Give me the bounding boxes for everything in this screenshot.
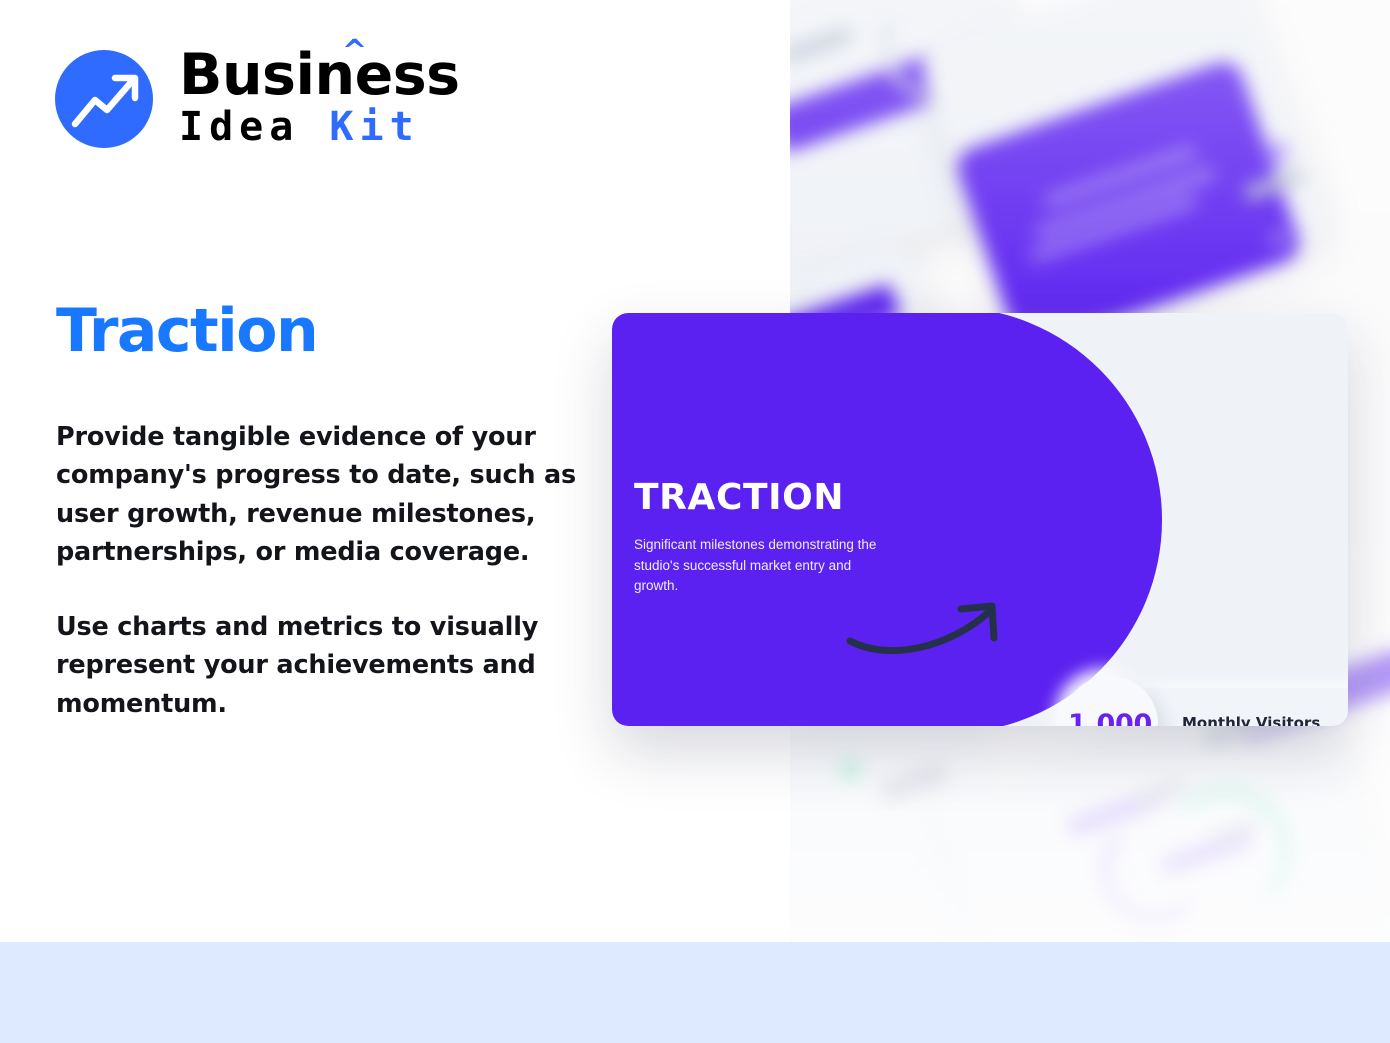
brand-name-business-text: Business bbox=[179, 42, 460, 108]
metric-value: 1,000 bbox=[1068, 709, 1152, 727]
metric-label-pill: Monthly Visitors bbox=[1134, 688, 1348, 726]
brand-wordmark: Business ^ Idea Kit bbox=[179, 48, 460, 149]
metric-value-bubble: 1,000 bbox=[1062, 676, 1158, 726]
description-block: Provide tangible evidence of your compan… bbox=[56, 418, 576, 723]
brand-name-ideakit: Idea Kit bbox=[179, 106, 460, 149]
page-title: Traction bbox=[56, 296, 317, 366]
metric-row[interactable]: 1,000 Monthly Visitors bbox=[1062, 676, 1348, 726]
slide-purple-circle bbox=[736, 313, 1162, 726]
description-paragraph-2: Use charts and metrics to visually repre… bbox=[56, 608, 576, 723]
slide-subtitle: Significant milestones demonstrating the… bbox=[634, 535, 896, 597]
curved-arrow-up-right-icon bbox=[844, 593, 1014, 663]
brand-name-idea: Idea bbox=[179, 104, 329, 150]
caret-accent-icon: ^ bbox=[342, 37, 367, 66]
description-paragraph-1: Provide tangible evidence of your compan… bbox=[56, 418, 576, 571]
brand-name-business: Business ^ bbox=[179, 48, 460, 104]
bottom-banner bbox=[0, 942, 1390, 1043]
brand-logo: Business ^ Idea Kit bbox=[55, 48, 460, 149]
growth-arrow-circle-icon bbox=[55, 50, 153, 148]
metric-label: Monthly Visitors bbox=[1182, 714, 1320, 726]
brand-name-kit: Kit bbox=[329, 104, 419, 150]
slide-title: TRACTION bbox=[634, 477, 844, 518]
slide-preview-page: Business ^ Idea Kit Traction Provide tan… bbox=[0, 0, 1390, 1043]
traction-slide-card[interactable]: TRACTION Significant milestones demonstr… bbox=[612, 313, 1348, 726]
